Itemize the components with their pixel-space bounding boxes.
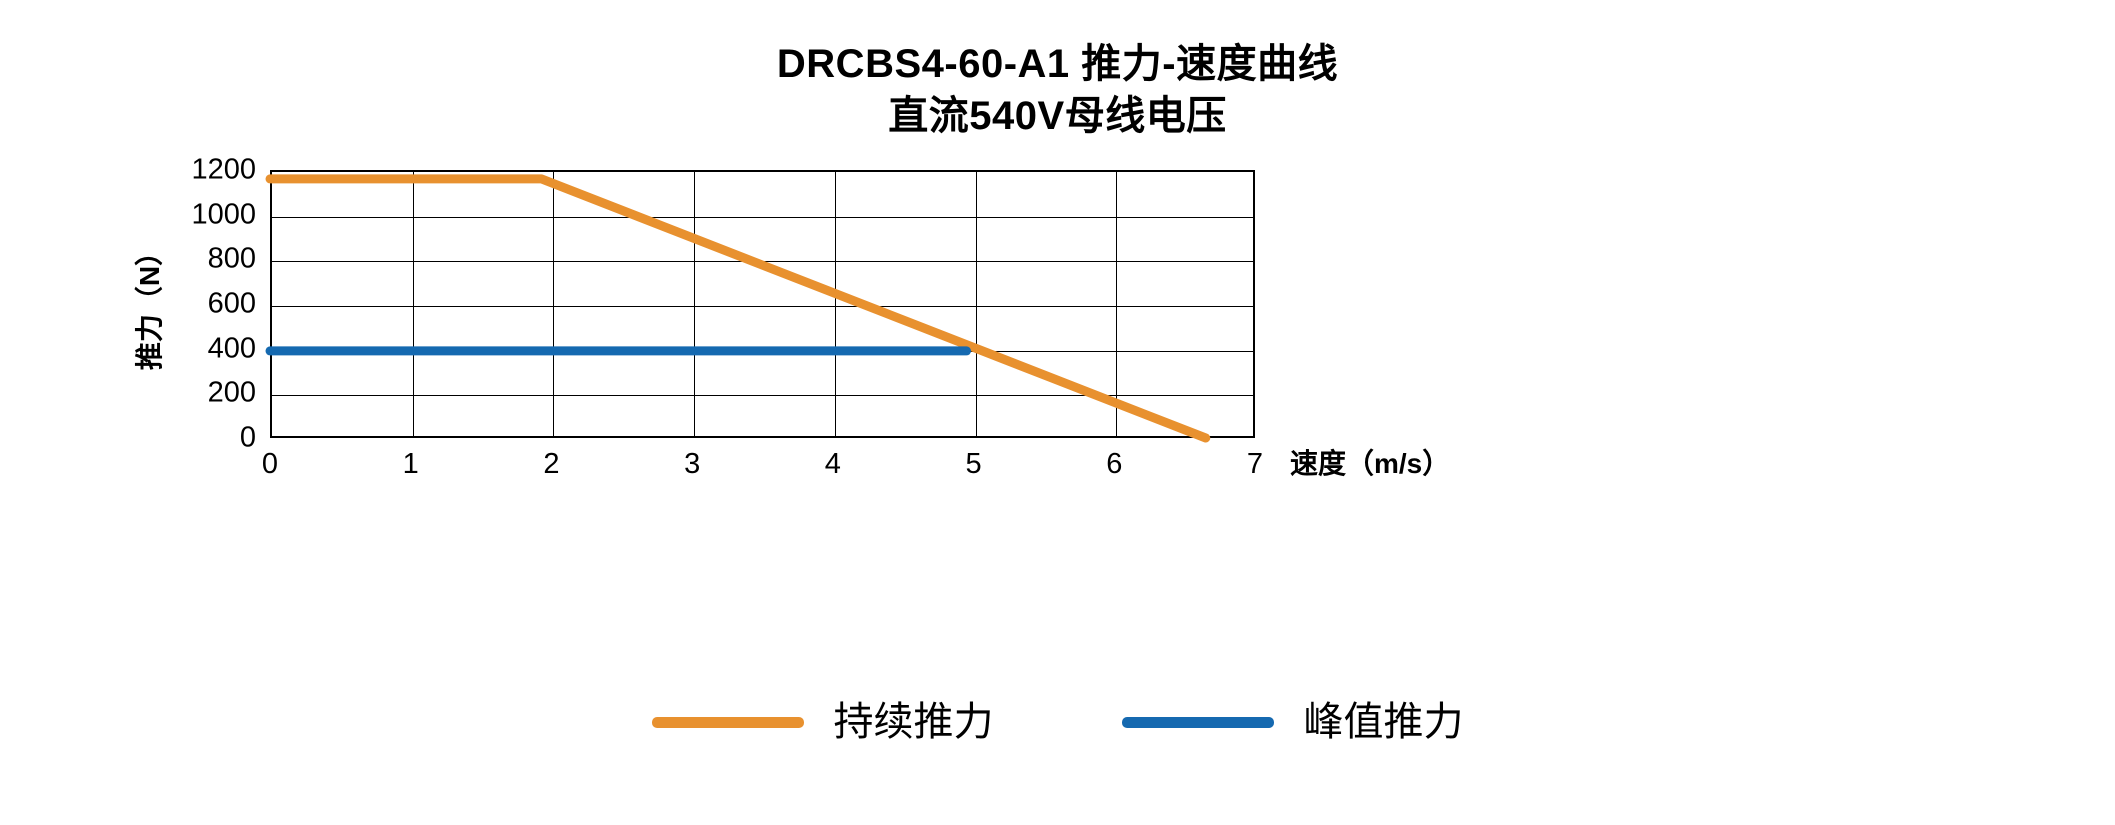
chart-title-line-2: 直流540V母线电压 [0, 90, 2115, 142]
thrust-speed-chart-figure: DRCBS4-60-A1 推力-速度曲线 直流540V母线电压 推力（N） 02… [0, 0, 2115, 825]
x-axis-tick-label: 3 [652, 450, 732, 479]
y-axis-tick-label: 0 [166, 424, 256, 453]
x-axis-tick-label: 5 [934, 450, 1014, 479]
legend-entry[interactable]: 持续推力 [652, 700, 994, 744]
chart-title-block: DRCBS4-60-A1 推力-速度曲线 直流540V母线电压 [0, 38, 2115, 142]
y-axis-tick-label: 1200 [166, 156, 256, 185]
y-axis-tick-label: 400 [166, 334, 256, 363]
chart-title-line-1: DRCBS4-60-A1 推力-速度曲线 [0, 38, 2115, 90]
chart-legend: 持续推力峰值推力 [0, 700, 2115, 744]
legend-label: 持续推力 [834, 700, 994, 744]
x-axis-tick-label: 4 [793, 450, 873, 479]
legend-label: 峰值推力 [1304, 700, 1464, 744]
legend-swatch-icon [652, 717, 804, 728]
series-line [270, 179, 1206, 438]
y-axis-tick-label: 800 [166, 245, 256, 274]
data-series-layer [270, 170, 1255, 438]
y-axis-tick-label: 600 [166, 290, 256, 319]
x-axis-tick-label: 7 [1215, 450, 1295, 479]
x-axis-tick-label: 6 [1074, 450, 1154, 479]
y-axis-tick-label: 1000 [166, 200, 256, 229]
y-axis-tick-label: 200 [166, 379, 256, 408]
legend-entry[interactable]: 峰值推力 [1122, 700, 1464, 744]
x-axis-tick-label: 1 [371, 450, 451, 479]
x-axis-title: 速度（m/s） [1290, 448, 1450, 480]
x-axis-tick-labels: 01234567 [270, 450, 1255, 486]
x-axis-tick-label: 0 [230, 450, 310, 479]
x-axis-tick-label: 2 [511, 450, 591, 479]
legend-swatch-icon [1122, 717, 1274, 728]
y-axis-tick-labels: 020040060080010001200 [152, 170, 256, 438]
